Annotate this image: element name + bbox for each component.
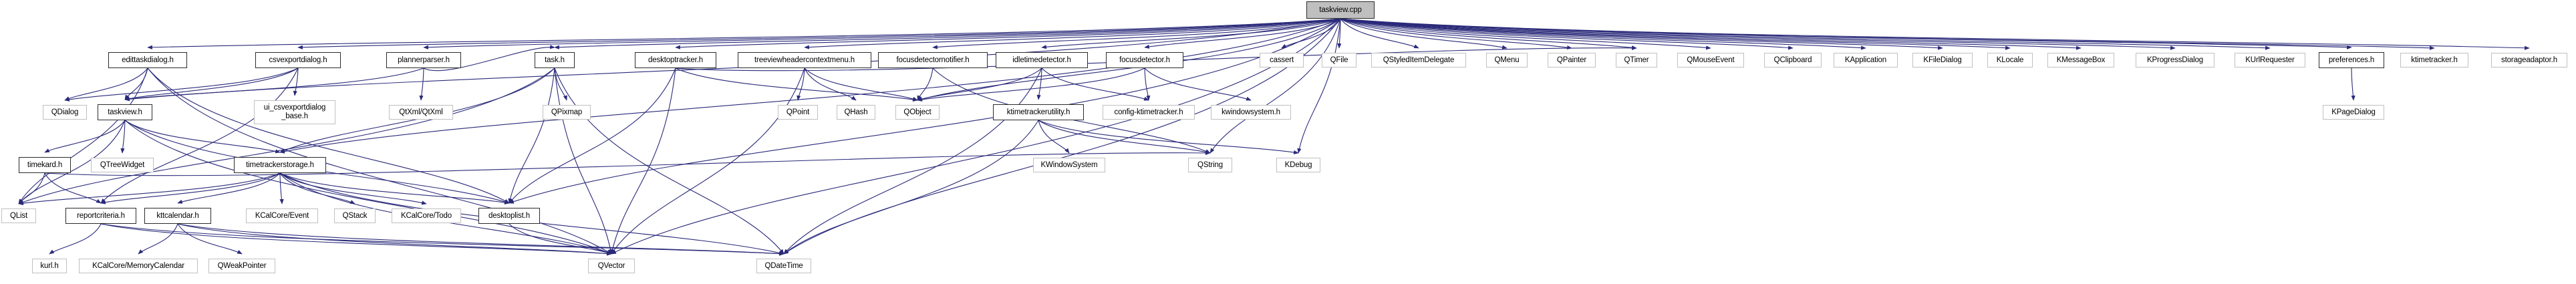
graph-edge [138, 224, 178, 254]
graph-edge [280, 173, 355, 204]
graph-edge [611, 68, 805, 254]
graph-node-edittaskdialog-h[interactable]: edittaskdialog.h [108, 52, 187, 68]
graph-edge [19, 173, 280, 204]
graph-node-KUrlRequester[interactable]: KUrlRequester [2235, 53, 2305, 67]
graph-node-QtXmlQtXml[interactable]: QtXml/QtXml [389, 105, 453, 120]
graph-edge [784, 120, 1038, 254]
graph-node-KPageDialog[interactable]: KPageDialog [2323, 105, 2384, 120]
graph-node-KFileDialog[interactable]: KFileDialog [1912, 53, 1973, 67]
graph-node-desktoptracker-h[interactable]: desktoptracker.h [635, 52, 716, 68]
graph-node-taskview-h[interactable]: taskview.h [98, 104, 152, 120]
graph-edge [148, 68, 509, 203]
graph-node-QPainter[interactable]: QPainter [1548, 53, 1596, 67]
graph-node-plannerparser-h[interactable]: plannerparser.h [386, 52, 461, 68]
graph-node-QDateTime[interactable]: QDateTime [756, 259, 811, 273]
graph-edge [676, 68, 917, 100]
graph-node-focusdetectornotifier-h[interactable]: focusdetectornotifier.h [878, 52, 988, 68]
graph-node-QDialog[interactable]: QDialog [43, 105, 87, 120]
graph-node-storageadaptor-h[interactable]: storageadaptor.h [2491, 53, 2567, 67]
graph-edge [19, 68, 148, 204]
graph-node-QPoint[interactable]: QPoint [778, 105, 818, 120]
graph-edge [2351, 68, 2353, 100]
graph-edge [555, 19, 1340, 47]
graph-edge [784, 68, 1042, 254]
graph-node-KProgressDialog[interactable]: KProgressDialog [2136, 53, 2214, 67]
graph-edge [555, 68, 611, 254]
graph-node-KCalCoreEvent[interactable]: KCalCore/Event [246, 208, 318, 223]
graph-node-KDebug[interactable]: KDebug [1276, 158, 1320, 172]
graph-node-focusdetector-h[interactable]: focusdetector.h [1106, 52, 1183, 68]
graph-edge [280, 173, 282, 204]
graph-edge [509, 68, 676, 203]
graph-edge [101, 173, 280, 203]
graph-node-csvexportdialog-h[interactable]: csvexportdialog.h [255, 52, 341, 68]
graph-node-QObject[interactable]: QObject [895, 105, 940, 120]
graph-edge [1145, 68, 1149, 100]
graph-node-preferences-h[interactable]: preferences.h [2319, 52, 2384, 68]
graph-node-QMouseEvent[interactable]: QMouseEvent [1677, 53, 1744, 67]
graph-node-QHash[interactable]: QHash [837, 105, 875, 120]
graph-node-QString[interactable]: QString [1188, 158, 1232, 172]
graph-node-KCalCoreTodo[interactable]: KCalCore/Todo [392, 208, 461, 223]
graph-node-reportcriteria-h[interactable]: reportcriteria.h [65, 208, 136, 224]
graph-edge [49, 224, 101, 254]
graph-node-KApplication[interactable]: KApplication [1834, 53, 1898, 67]
graph-edge [798, 68, 805, 100]
graph-edge [148, 19, 1340, 47]
graph-edge [1038, 68, 1042, 100]
graph-edges [0, 0, 2576, 284]
graph-node-ktimetracker-h[interactable]: ktimetracker.h [2400, 53, 2468, 67]
graph-edge [125, 68, 298, 100]
graph-node-KCalCoreMemoryCalendar[interactable]: KCalCore/MemoryCalendar [79, 259, 198, 273]
graph-node-cassert[interactable]: cassert [1260, 53, 1304, 67]
graph-edge [1038, 120, 1298, 153]
graph-node-kttcalendar-h[interactable]: kttcalendar.h [144, 208, 211, 224]
graph-node-idletimedetector-h[interactable]: idletimedetector.h [996, 52, 1088, 68]
graph-node-KLocale[interactable]: KLocale [1987, 53, 2033, 67]
graph-node-QTreeWidget[interactable]: QTreeWidget [91, 158, 154, 172]
graph-node-desktoplist-h[interactable]: desktoplist.h [478, 208, 540, 224]
graph-node-QMenu[interactable]: QMenu [1486, 53, 1528, 67]
include-dependency-graph: taskview.cppedittaskdialog.hcsvexportdia… [0, 0, 2576, 284]
graph-node-QTimer[interactable]: QTimer [1616, 53, 1657, 67]
graph-edge [178, 224, 784, 254]
graph-edge [917, 68, 1145, 100]
graph-node-QStack[interactable]: QStack [334, 208, 376, 223]
graph-node-QWeakPointer[interactable]: QWeakPointer [208, 259, 275, 273]
graph-node-taskview-cpp[interactable]: taskview.cpp [1306, 1, 1375, 19]
graph-node-task-h[interactable]: task.h [535, 52, 575, 68]
graph-node-QPixmap[interactable]: QPixmap [543, 105, 591, 120]
graph-node-KMessageBox[interactable]: KMessageBox [2047, 53, 2114, 67]
graph-edge [555, 68, 784, 254]
graph-node-QList[interactable]: QList [1, 208, 36, 223]
graph-node-timetrackerstorage-h[interactable]: timetrackerstorage.h [234, 157, 326, 173]
graph-edge [1145, 68, 1251, 100]
graph-edge [101, 68, 298, 203]
graph-node-KWindowSystem[interactable]: KWindowSystem [1033, 158, 1105, 172]
graph-node-timekard-h[interactable]: timekard.h [19, 157, 71, 173]
graph-node-config-ktimetracker-h[interactable]: config-ktimetracker.h [1103, 105, 1195, 120]
graph-node-ktimetrackerutility-h[interactable]: ktimetrackerutility.h [993, 104, 1084, 120]
graph-edge [917, 68, 933, 100]
graph-node-QStyledItemDelegate[interactable]: QStyledItemDelegate [1371, 53, 1466, 67]
graph-node-kwindowsystem-h[interactable]: kwindowsystem.h [1211, 105, 1291, 120]
graph-edge [805, 68, 917, 100]
graph-edge [421, 68, 424, 100]
graph-edge [424, 19, 1340, 47]
graph-node-QVector[interactable]: QVector [588, 259, 635, 273]
graph-node-ui-csvexportdialog-base-h[interactable]: ui_csvexportdialog _base.h [254, 100, 335, 124]
graph-edge [178, 173, 280, 203]
graph-node-kurl-h[interactable]: kurl.h [32, 259, 67, 273]
graph-node-QFile[interactable]: QFile [1322, 53, 1356, 67]
graph-node-QClipboard[interactable]: QClipboard [1764, 53, 1822, 67]
graph-edge [611, 68, 676, 254]
graph-node-treeviewheadercontextmenu-h[interactable]: treeviewheadercontextmenu.h [738, 52, 871, 68]
